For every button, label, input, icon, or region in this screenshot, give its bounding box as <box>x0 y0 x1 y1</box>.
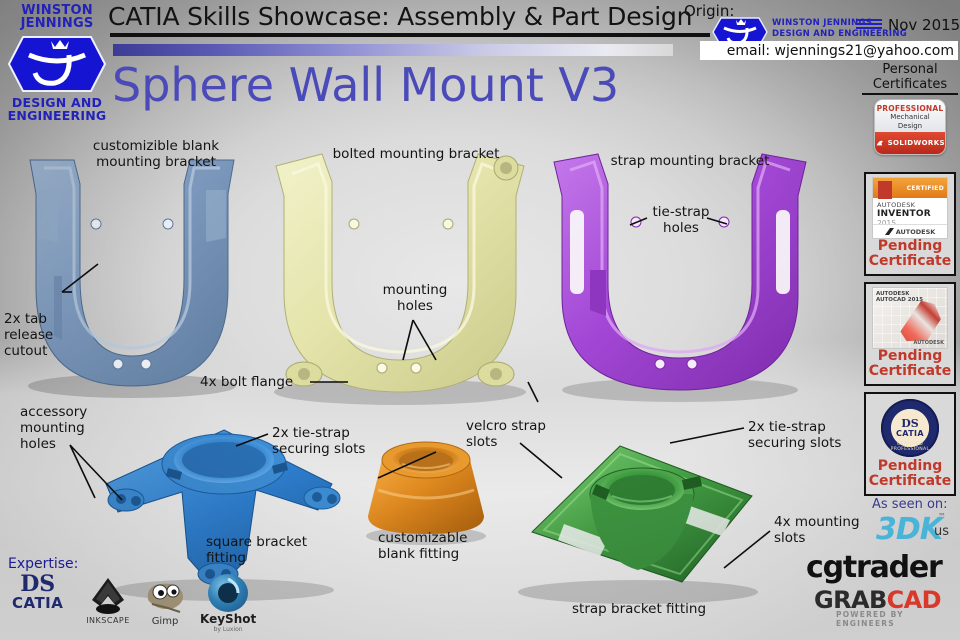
annotation-mounting-slots: 4x mounting slots <box>774 514 874 546</box>
grabcad-tagline: POWERED BY ENGINEERS <box>836 610 960 628</box>
tool-gimp: Gimp <box>142 578 188 627</box>
page-title: CATIA Skills Showcase: Assembly & Part D… <box>108 2 692 31</box>
origin-company: WINSTON JENNINGS DESIGN AND ENGINEERING <box>772 18 907 40</box>
annotation-strap-bracket-fitting: strap bracket fitting <box>572 601 752 617</box>
logo-top-text: WINSTON JENNINGS <box>4 4 110 30</box>
origin-rule-icon <box>856 19 882 29</box>
part-strap-bracket-fitting <box>504 432 772 608</box>
project-title: Sphere Wall Mount V3 <box>112 58 619 112</box>
accent-bar <box>113 44 673 56</box>
status-badge: Pending Certificate <box>869 349 951 379</box>
autocad-badge-icon: AUTODESK AUTOCAD 2015 AUTODESK <box>872 287 948 349</box>
autodesk-icon <box>885 227 894 236</box>
annotation-square-bracket-fitting: square bracket fitting <box>206 534 336 566</box>
annotation-mounting-holes: mounting holes <box>376 282 454 314</box>
dassault-icon <box>875 137 885 149</box>
inventor-i-icon <box>878 181 892 199</box>
keyshot-icon <box>208 574 248 612</box>
annotation-blank-bracket: customizible blank mounting bracket <box>76 138 236 170</box>
annotation-strap-bracket: strap mounting bracket <box>600 153 780 169</box>
annotation-tie-strap-slots-blue: 2x tie-strap securing slots <box>272 425 392 457</box>
annotation-tie-strap-holes: tie-strap holes <box>648 204 714 236</box>
annotation-tab-release-cutout: 2x tab release cutout <box>4 311 80 359</box>
autocad-footer-brand: AUTODESK <box>914 340 944 346</box>
certificate-solidworks[interactable]: PROFESSIONAL Mechanical Design SOLIDWORK… <box>864 96 956 162</box>
email-text: email: wjennings21@yahoo.com <box>727 43 954 59</box>
status-badge: Pending Certificate <box>869 239 951 269</box>
part-strap-mounting-bracket <box>540 150 820 406</box>
cgtrader-logo[interactable]: cgtrader <box>806 550 942 585</box>
as-seen-on-heading: As seen on: <box>872 497 948 512</box>
3dk-suffix: us <box>934 524 949 539</box>
title-underline <box>110 33 710 37</box>
expertise-label: Expertise: <box>8 556 78 572</box>
company-logo: WINSTON JENNINGS DESIGN AND ENGINEERING <box>4 4 110 130</box>
inkscape-icon <box>86 576 130 616</box>
expertise-tools: DS CATIA INKSCAPE G <box>8 574 270 636</box>
annotation-bolted-bracket: bolted mounting bracket <box>326 146 506 162</box>
annotation-bolt-flange: 4x bolt flange <box>200 374 310 390</box>
certificate-inventor[interactable]: CERTIFIED AUTODESK INVENTOR 2015 AUTODES… <box>864 172 956 276</box>
autocad-brand: AUTODESK AUTOCAD 2015 <box>876 291 923 303</box>
certificate-catia[interactable]: DS CATIA CERTIFIED PROFESSIONAL Pending … <box>864 392 956 496</box>
email-bar: email: wjennings21@yahoo.com <box>700 41 958 60</box>
inventor-badge-icon: CERTIFIED AUTODESK INVENTOR 2015 AUTODES… <box>872 177 948 239</box>
part-bolted-mounting-bracket <box>258 140 548 408</box>
tool-keyshot: KeyShot by Luxion <box>200 574 256 633</box>
annotation-accessory-holes: accessory mounting holes <box>20 404 116 452</box>
annotation-velcro-strap-slots: velcro strap slots <box>466 418 570 450</box>
certificate-autocad[interactable]: AUTODESK AUTOCAD 2015 AUTODESK Pending C… <box>864 282 956 386</box>
gimp-icon <box>142 578 188 616</box>
annotation-blank-fitting: customizable blank fitting <box>378 530 498 562</box>
3dk-logo[interactable]: 3DK <box>876 512 942 547</box>
logo-emblem-icon <box>7 33 107 95</box>
origin-date: Nov 2015 <box>888 16 960 34</box>
logo-bottom-text: DESIGN AND ENGINEERING <box>4 96 110 122</box>
poster-canvas: WINSTON JENNINGS DESIGN AND ENGINEERING … <box>0 0 960 640</box>
status-badge: Pending Certificate <box>869 459 951 489</box>
annotation-tie-strap-slots-green: 2x tie-strap securing slots <box>748 419 872 451</box>
catia-badge-icon: DS CATIA CERTIFIED PROFESSIONAL <box>878 397 942 459</box>
solidworks-badge-icon: PROFESSIONAL Mechanical Design SOLIDWORK… <box>874 99 946 155</box>
part-blank-mounting-bracket <box>14 150 244 400</box>
certificates-heading: Personal Certificates <box>862 62 958 95</box>
tool-catia: DS CATIA <box>12 574 63 612</box>
tool-inkscape: INKSCAPE <box>86 576 130 625</box>
3dk-tm: ™ <box>938 512 946 521</box>
